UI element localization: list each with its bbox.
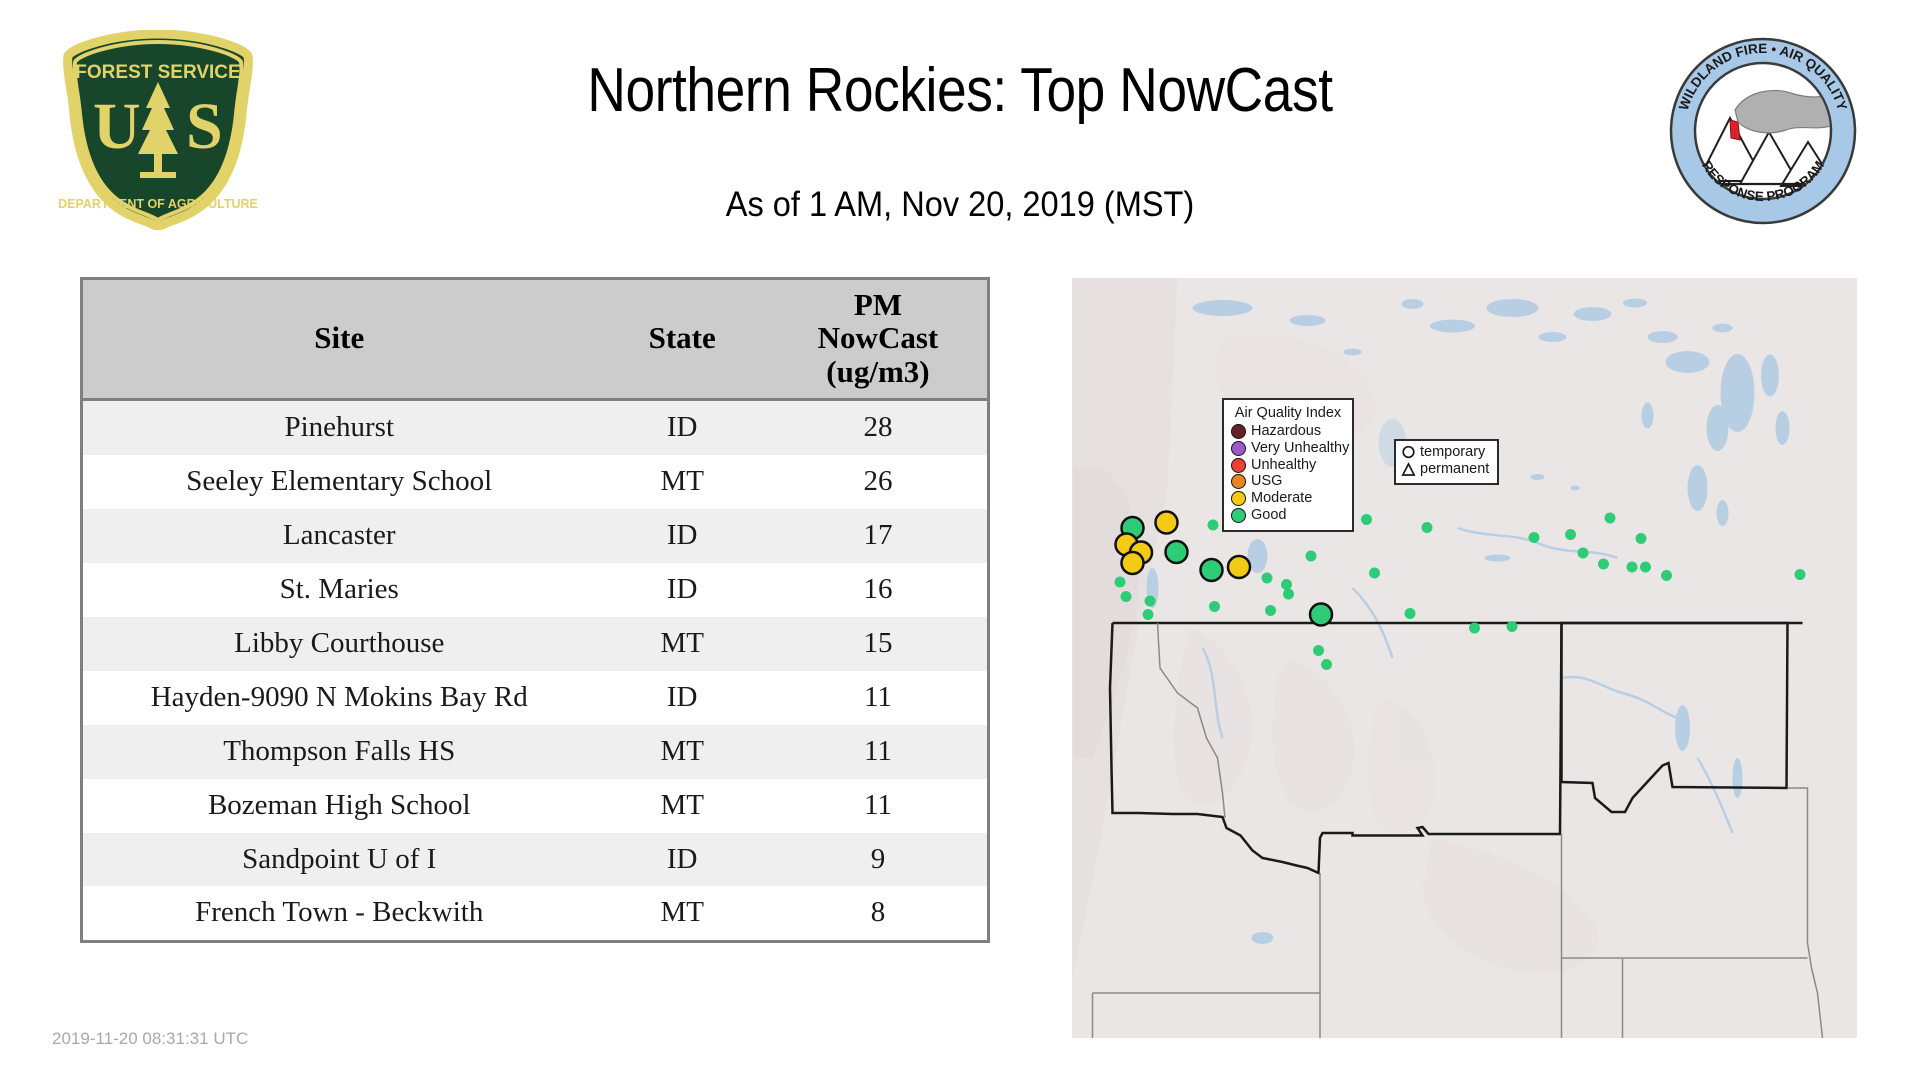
cell-site: Libby Courthouse	[83, 617, 595, 671]
monitor-dot[interactable]	[1281, 579, 1292, 590]
cell-state: MT	[595, 886, 768, 940]
monitor-dot[interactable]	[1306, 551, 1317, 562]
monitor-dot[interactable]	[1262, 573, 1273, 584]
table-row: LancasterID17	[83, 509, 987, 563]
aqi-color-dot-icon	[1231, 458, 1246, 473]
cell-pm-nowcast: 28	[769, 400, 987, 455]
top-site-monitor-marker[interactable]	[1166, 541, 1188, 563]
fs-letter-s: S	[186, 90, 223, 163]
monitor-dot[interactable]	[1578, 548, 1589, 559]
monitor-dot[interactable]	[1640, 562, 1651, 573]
aqi-legend-entry: Hazardous	[1231, 423, 1345, 440]
top-site-monitor-marker[interactable]	[1310, 604, 1332, 626]
cell-state: ID	[595, 563, 768, 617]
aqi-legend-title: Air Quality Index	[1231, 405, 1345, 421]
cell-pm-nowcast: 9	[769, 833, 987, 887]
cell-site: Lancaster	[83, 509, 595, 563]
map-canvas	[1072, 278, 1857, 1038]
fs-letter-u: U	[93, 90, 141, 163]
monitor-dot[interactable]	[1605, 513, 1616, 524]
monitor-dot[interactable]	[1145, 596, 1156, 607]
cell-state: MT	[595, 617, 768, 671]
cell-state: ID	[595, 400, 768, 455]
monitor-dot[interactable]	[1636, 533, 1647, 544]
triangle-icon	[1401, 462, 1416, 478]
cell-pm-nowcast: 11	[769, 725, 987, 779]
monitor-dot[interactable]	[1283, 589, 1294, 600]
aqi-legend-entry: USG	[1231, 473, 1345, 490]
page-subtitle: As of 1 AM, Nov 20, 2019 (MST)	[346, 185, 1574, 225]
cell-site: Thompson Falls HS	[83, 725, 595, 779]
cell-state: ID	[595, 833, 768, 887]
monitor-dot[interactable]	[1565, 529, 1576, 540]
aqi-legend-label: Good	[1251, 507, 1286, 524]
cell-site: St. Maries	[83, 563, 595, 617]
cell-state: ID	[595, 509, 768, 563]
cell-site: Sandpoint U of I	[83, 833, 595, 887]
top-site-monitor-marker[interactable]	[1122, 552, 1144, 574]
table-row: French Town - BeckwithMT8	[83, 886, 987, 940]
cell-site: Bozeman High School	[83, 779, 595, 833]
table-row: Thompson Falls HSMT11	[83, 725, 987, 779]
circle-icon	[1401, 445, 1416, 461]
aqi-color-dot-icon	[1231, 508, 1246, 523]
symbol-legend-permanent: permanent	[1401, 461, 1492, 478]
aqi-legend-label: Hazardous	[1251, 423, 1321, 440]
aqi-legend-label: Unhealthy	[1251, 457, 1316, 474]
cell-state: MT	[595, 455, 768, 509]
monitor-dot[interactable]	[1627, 562, 1638, 573]
aqi-color-dot-icon	[1231, 474, 1246, 489]
aqi-color-dot-icon	[1231, 441, 1246, 456]
table-body: PinehurstID28Seeley Elementary SchoolMT2…	[83, 400, 987, 940]
cell-site: Hayden-9090 N Mokins Bay Rd	[83, 671, 595, 725]
aqi-color-dot-icon	[1231, 424, 1246, 439]
monitor-dot[interactable]	[1795, 569, 1806, 580]
column-header-state: State	[595, 280, 768, 400]
top-site-monitor-marker[interactable]	[1228, 556, 1250, 578]
top-site-monitor-marker[interactable]	[1201, 559, 1223, 581]
cell-site: Seeley Elementary School	[83, 455, 595, 509]
pm-header-line-2: NowCast	[771, 321, 985, 354]
monitor-dot[interactable]	[1405, 608, 1416, 619]
cell-pm-nowcast: 11	[769, 779, 987, 833]
cell-pm-nowcast: 8	[769, 886, 987, 940]
monitor-dot[interactable]	[1469, 623, 1480, 634]
monitor-dot[interactable]	[1529, 532, 1540, 543]
table-row: Bozeman High SchoolMT11	[83, 779, 987, 833]
monitor-dot[interactable]	[1115, 577, 1126, 588]
column-header-pm-nowcast: PM NowCast (ug/m3)	[769, 280, 987, 400]
aqi-legend-entry: Unhealthy	[1231, 457, 1345, 474]
cell-pm-nowcast: 17	[769, 509, 987, 563]
cell-site: Pinehurst	[83, 400, 595, 455]
fs-bottom-text: DEPARTMENT OF AGRICULTURE	[58, 197, 258, 211]
table-row: Hayden-9090 N Mokins Bay RdID11	[83, 671, 987, 725]
symbol-legend-permanent-label: permanent	[1420, 461, 1489, 478]
aqi-legend-entry: Good	[1231, 507, 1345, 524]
symbol-legend: temporary permanent	[1394, 439, 1499, 485]
cell-pm-nowcast: 11	[769, 671, 987, 725]
aqi-legend-label: Moderate	[1251, 490, 1312, 507]
column-header-site: Site	[83, 280, 595, 400]
cell-state: ID	[595, 671, 768, 725]
monitor-dot[interactable]	[1361, 514, 1372, 525]
monitor-dot[interactable]	[1143, 609, 1154, 620]
fs-top-text: FOREST SERVICE	[75, 62, 240, 83]
cell-pm-nowcast: 15	[769, 617, 987, 671]
monitor-dot[interactable]	[1598, 559, 1609, 570]
monitor-dot[interactable]	[1121, 591, 1132, 602]
monitor-dot[interactable]	[1209, 601, 1220, 612]
monitor-dot[interactable]	[1265, 605, 1276, 616]
top-site-monitor-marker[interactable]	[1156, 512, 1178, 534]
table-row: PinehurstID28	[83, 400, 987, 455]
table-row: St. MariesID16	[83, 563, 987, 617]
monitor-dot[interactable]	[1507, 621, 1518, 632]
monitor-dot[interactable]	[1422, 522, 1433, 533]
monitor-dot[interactable]	[1661, 570, 1672, 581]
forest-service-logo: FOREST SERVICE U S DEPARTMENT OF AGRICUL…	[58, 30, 258, 230]
cell-site: French Town - Beckwith	[83, 886, 595, 940]
top-nowcast-table: Site State PM NowCast (ug/m3) PinehurstI…	[80, 277, 990, 943]
wildland-fire-air-quality-logo: WILDLAND FIRE • AIR QUALITY RESPONSE PRO…	[1668, 36, 1858, 226]
cell-pm-nowcast: 16	[769, 563, 987, 617]
aqi-legend-label: Very Unhealthy	[1251, 440, 1349, 457]
cell-state: MT	[595, 725, 768, 779]
footer-timestamp: 2019-11-20 08:31:31 UTC	[52, 1029, 248, 1049]
monitor-dot[interactable]	[1321, 659, 1332, 670]
table-row: Libby CourthouseMT15	[83, 617, 987, 671]
aqi-legend-label: USG	[1251, 473, 1282, 490]
monitor-dot[interactable]	[1369, 568, 1380, 579]
cell-state: MT	[595, 779, 768, 833]
aqi-legend: Air Quality Index HazardousVery Unhealth…	[1222, 398, 1354, 532]
slide-root: FOREST SERVICE U S DEPARTMENT OF AGRICUL…	[0, 0, 1920, 1080]
pm-header-line-1: PM	[771, 288, 985, 321]
aqi-legend-entry: Very Unhealthy	[1231, 440, 1345, 457]
aqi-color-dot-icon	[1231, 491, 1246, 506]
symbol-legend-temporary: temporary	[1401, 444, 1492, 461]
monitor-dot[interactable]	[1313, 645, 1324, 656]
cell-pm-nowcast: 26	[769, 455, 987, 509]
aqi-monitor-map[interactable]: Air Quality Index HazardousVery Unhealth…	[1072, 278, 1857, 1038]
pm-header-line-3: (ug/m3)	[771, 355, 985, 388]
table-header-row: Site State PM NowCast (ug/m3)	[83, 280, 987, 400]
aqi-legend-entry: Moderate	[1231, 490, 1345, 507]
table-row: Seeley Elementary SchoolMT26	[83, 455, 987, 509]
table-row: Sandpoint U of IID9	[83, 833, 987, 887]
monitor-dot[interactable]	[1208, 520, 1219, 531]
symbol-legend-temporary-label: temporary	[1420, 444, 1485, 461]
page-title: Northern Rockies: Top NowCast	[392, 58, 1527, 123]
